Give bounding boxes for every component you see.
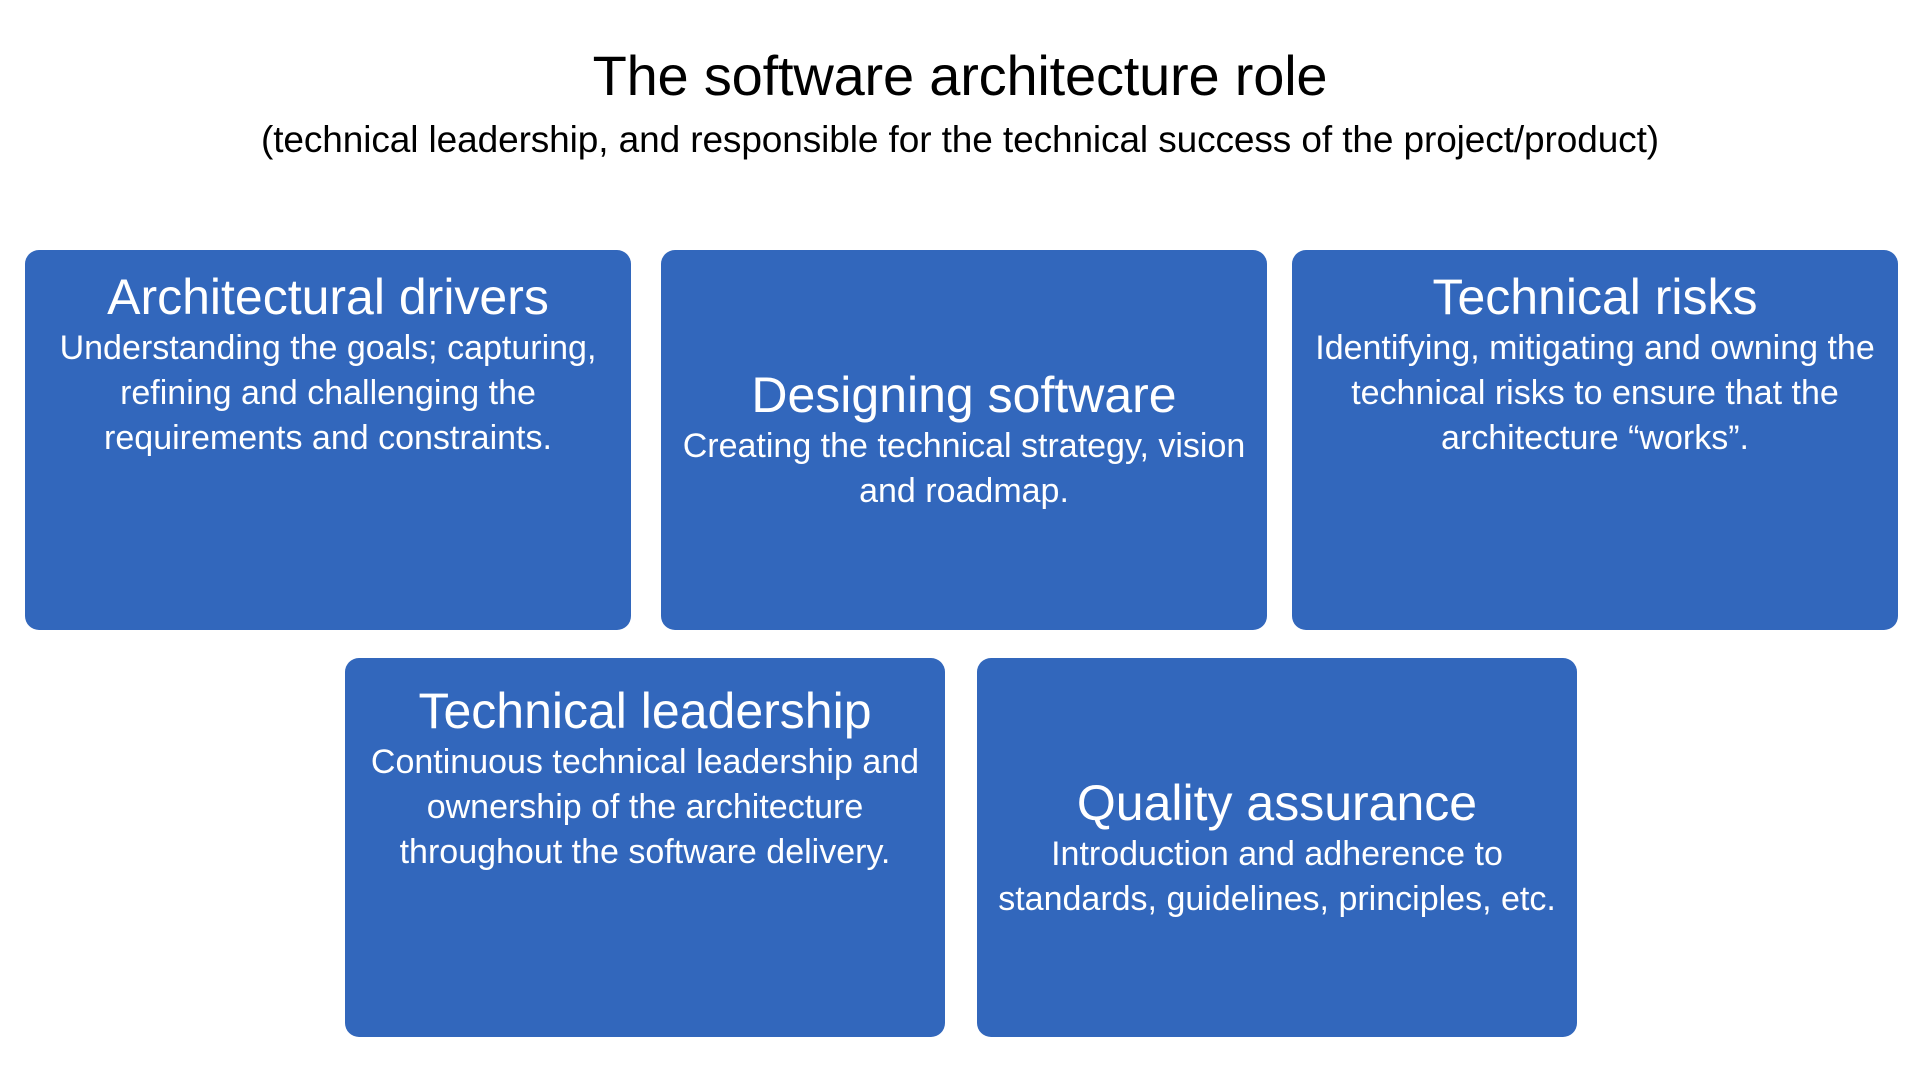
card-title: Designing software xyxy=(677,366,1251,424)
page-title: The software architecture role xyxy=(0,44,1920,108)
card-title: Quality assurance xyxy=(993,774,1561,832)
card-body: Continuous technical leadership and owne… xyxy=(361,740,929,875)
card-technical-leadership[interactable]: Technical leadership Continuous technica… xyxy=(345,658,945,1037)
card-architectural-drivers[interactable]: Architectural drivers Understanding the … xyxy=(25,250,631,630)
card-designing-software[interactable]: Designing software Creating the technica… xyxy=(661,250,1267,630)
card-body: Understanding the goals; capturing, refi… xyxy=(41,326,615,461)
card-title: Technical risks xyxy=(1308,268,1882,326)
slide-header: The software architecture role (technica… xyxy=(0,44,1920,162)
card-body: Identifying, mitigating and owning the t… xyxy=(1308,326,1882,461)
card-title: Architectural drivers xyxy=(41,268,615,326)
card-technical-risks[interactable]: Technical risks Identifying, mitigating … xyxy=(1292,250,1898,630)
slide-canvas: The software architecture role (technica… xyxy=(0,0,1920,1080)
card-quality-assurance[interactable]: Quality assurance Introduction and adher… xyxy=(977,658,1577,1037)
card-body: Introduction and adherence to standards,… xyxy=(993,832,1561,922)
card-body: Creating the technical strategy, vision … xyxy=(677,424,1251,514)
page-subtitle: (technical leadership, and responsible f… xyxy=(0,118,1920,162)
card-title: Technical leadership xyxy=(361,682,929,740)
